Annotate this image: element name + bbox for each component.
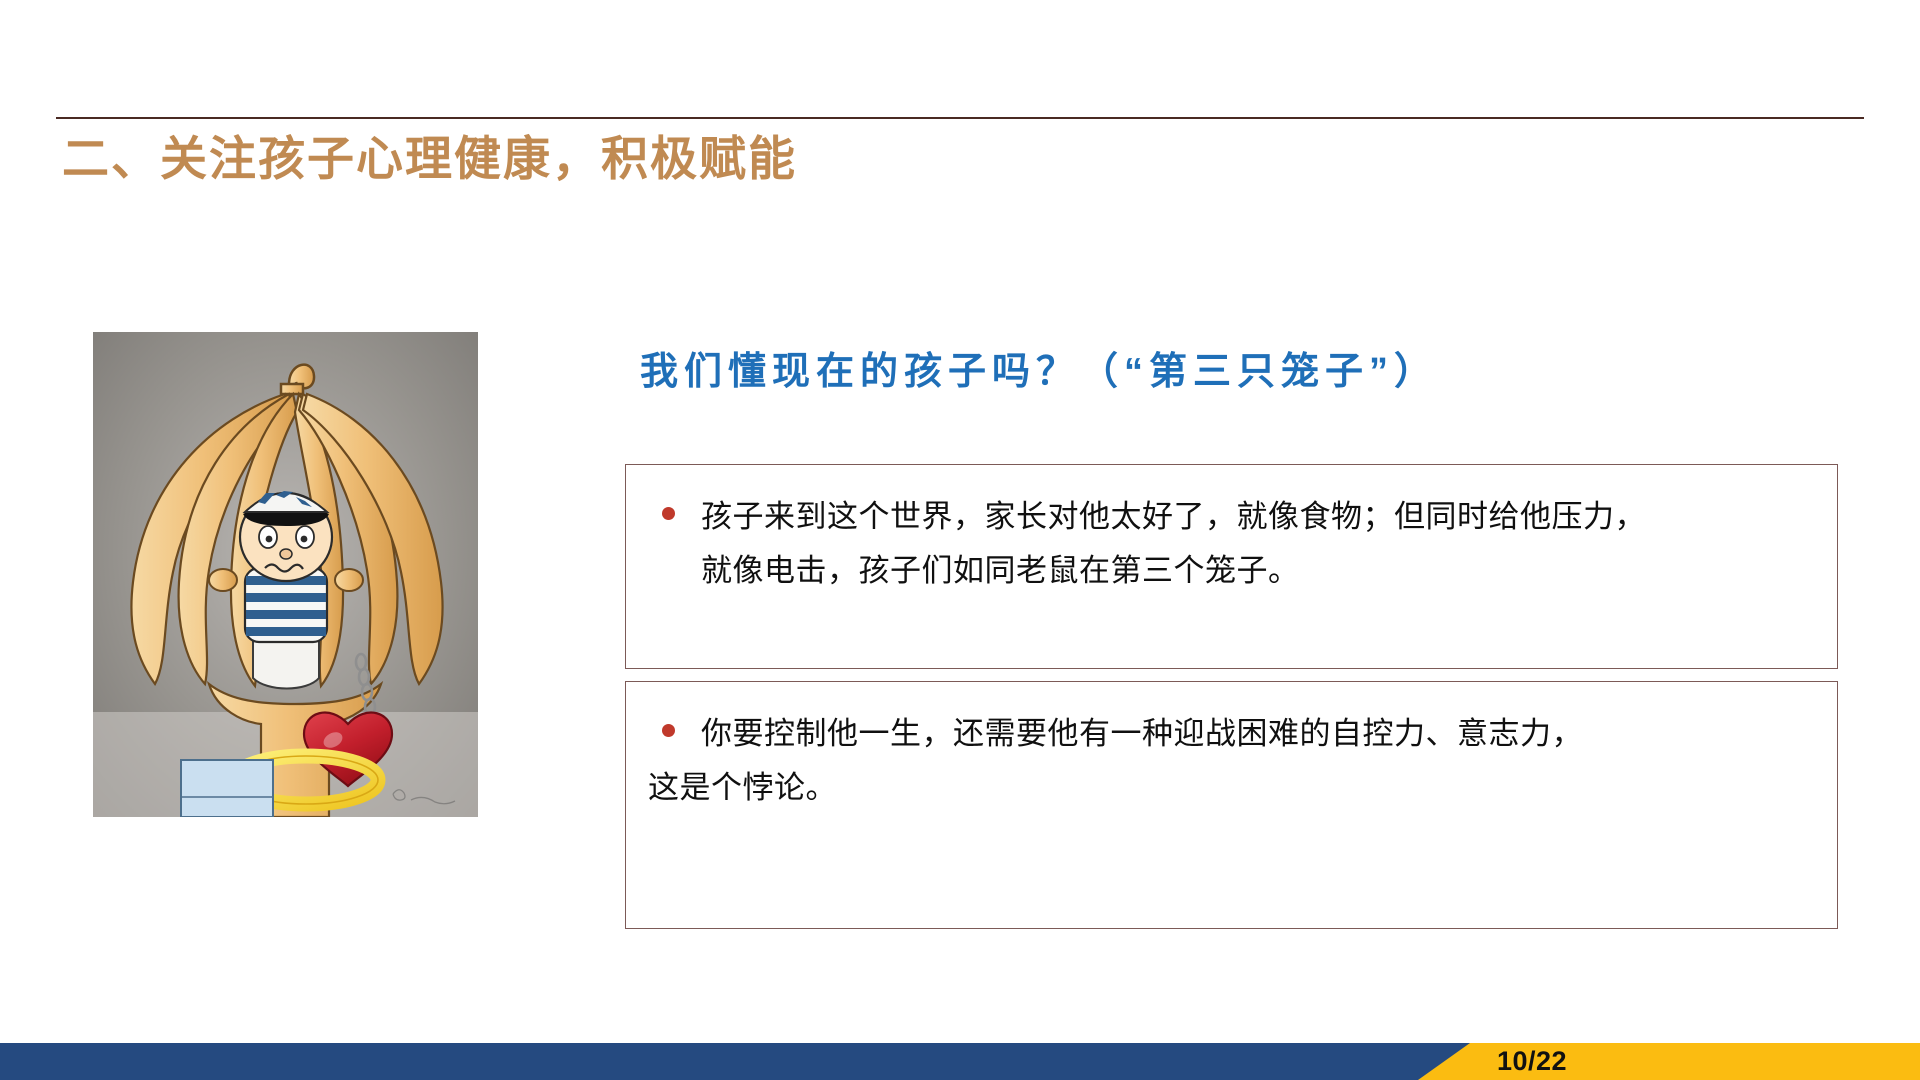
bullet-text-1-line2: 就像电击，孩子们如同老鼠在第三个笼子。: [626, 546, 1837, 596]
shirt-cuff: [181, 760, 273, 817]
bullet-dot-icon: [662, 507, 675, 520]
content-box-1: 孩子来到这个世界，家长对他太好了，就像食物；但同时给他压力， 就像电击，孩子们如…: [625, 464, 1838, 669]
bullet-row: 孩子来到这个世界，家长对他太好了，就像食物；但同时给他压力，: [626, 465, 1837, 542]
page-number: 10/22: [1497, 1046, 1567, 1077]
section-subtitle: 我们懂现在的孩子吗？（“第三只笼子”）: [640, 340, 1820, 395]
page-title: 二、关注孩子心理健康，积极赋能: [62, 130, 797, 189]
bullet-text-2: 你要控制他一生，还需要他有一种迎战困难的自控力、意志力，: [701, 709, 1583, 759]
header-divider: [56, 117, 1864, 119]
bullet-row: 你要控制他一生，还需要他有一种迎战困难的自控力、意志力，: [626, 682, 1837, 759]
illustration-hands-birdcage: [93, 332, 478, 817]
content-box-2: 你要控制他一生，还需要他有一种迎战困难的自控力、意志力， 这是个悖论。: [625, 681, 1838, 929]
footer-accent-shape: [1418, 1043, 1920, 1080]
birdcage-illustration-svg: [93, 332, 478, 817]
bullet-dot-icon: [662, 724, 675, 737]
bullet-text-2-line2: 这是个悖论。: [626, 763, 1837, 813]
bullet-text-1: 孩子来到这个世界，家长对他太好了，就像食物；但同时给他压力，: [701, 492, 1646, 542]
